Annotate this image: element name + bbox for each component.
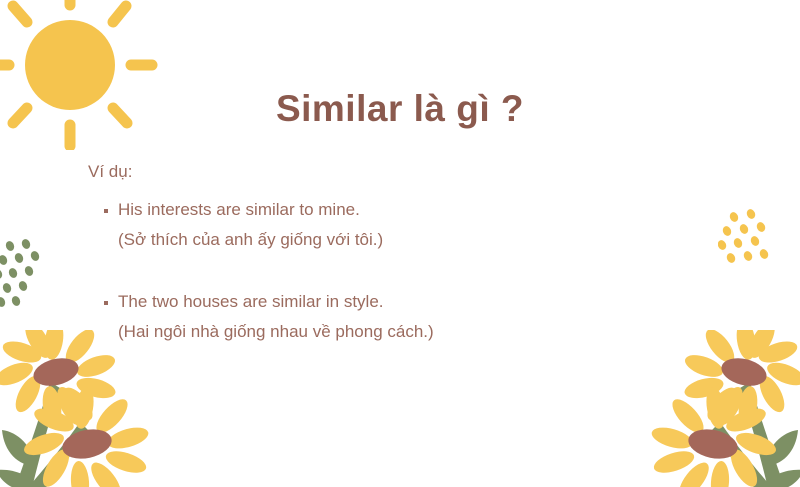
flower-icon [643,330,800,487]
example-item: The two houses are similar in style. (Ha… [88,292,648,342]
dot-cluster [718,208,778,270]
example-vietnamese-text: (Hai ngôi nhà giống nhau về phong cách.) [88,322,648,342]
bullet-icon [104,301,108,305]
example-item: His interests are similar to mine. (Sở t… [88,200,648,250]
flower-icon [0,330,157,487]
example-vietnamese-text: (Sở thích của anh ấy giống với tôi.) [88,230,648,250]
example-english-text: His interests are similar to mine. [118,200,360,220]
slide-canvas: Similar là gì ? Ví dụ: His interests are… [0,0,800,487]
example-english-line: The two houses are similar in style. [88,292,648,312]
example-label: Ví dụ: [88,162,648,182]
example-english-line: His interests are similar to mine. [88,200,648,220]
bullet-icon [104,209,108,213]
example-english-text: The two houses are similar in style. [118,292,384,312]
content-body: Ví dụ: His interests are similar to mine… [88,162,648,342]
dot-cluster [0,238,55,310]
page-title: Similar là gì ? [0,88,800,130]
